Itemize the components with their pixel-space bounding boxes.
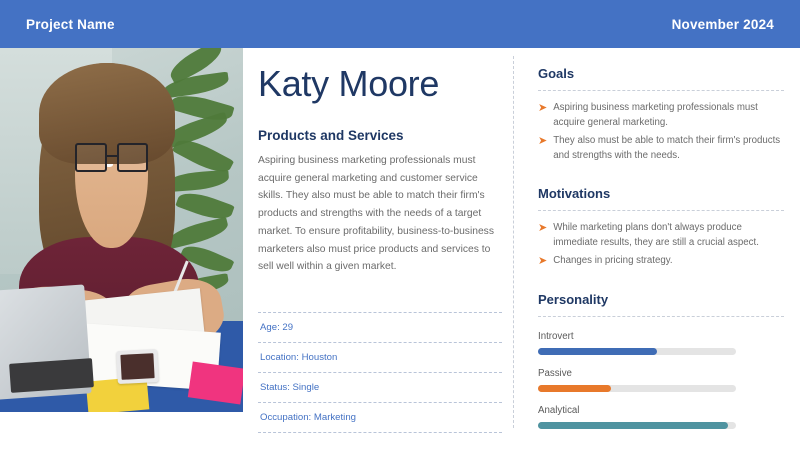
personality-meters: Introvert Passive Analytical [538, 331, 784, 429]
motivations-list: ➤ While marketing plans don't always pro… [538, 221, 784, 270]
goals-item-text: They also must be able to match their fi… [553, 134, 784, 163]
profile-photo [0, 48, 243, 412]
personality-panel: Personality Introvert Passive Analytic [538, 274, 784, 429]
header-date: November 2024 [672, 17, 774, 32]
goals-panel: Goals ➤ Aspiring business marketing prof… [538, 48, 784, 164]
trait-label: Analytical [538, 405, 784, 416]
eyeglasses-icon [75, 143, 148, 172]
trait-slider[interactable] [538, 348, 736, 355]
page-header: Project Name November 2024 [0, 0, 800, 48]
person-name: Katy Moore [258, 66, 502, 102]
trait-fill [538, 422, 728, 429]
fact-status: Status: Single [258, 373, 502, 403]
list-item: ➤ While marketing plans don't always pro… [538, 221, 784, 250]
personality-rule [538, 316, 784, 317]
motivations-panel: Motivations ➤ While marketing plans don'… [538, 168, 784, 270]
facts-list: Age: 29 Location: Houston Status: Single… [258, 312, 502, 433]
phone-icon [116, 349, 159, 384]
trait-fill [538, 348, 657, 355]
arrow-bullet-icon: ➤ [538, 101, 547, 117]
column-divider [513, 56, 514, 428]
fact-location: Location: Houston [258, 343, 502, 373]
photo-illustration [0, 48, 243, 412]
personality-title: Personality [538, 274, 784, 307]
project-name: Project Name [26, 17, 115, 32]
details-column: Goals ➤ Aspiring business marketing prof… [538, 48, 784, 450]
laptop-keyboard [9, 358, 93, 393]
trait-label: Passive [538, 368, 784, 379]
list-item: ➤ They also must be able to match their … [538, 134, 784, 163]
trait-passive: Passive [538, 368, 784, 392]
motivations-rule [538, 210, 784, 211]
arrow-bullet-icon: ➤ [538, 134, 547, 150]
trait-slider[interactable] [538, 385, 736, 392]
motivations-item-text: Changes in pricing strategy. [553, 254, 672, 269]
sticky-note-pink [187, 361, 243, 404]
profile-column: Katy Moore Products and Services Aspirin… [258, 48, 502, 450]
trait-slider[interactable] [538, 422, 736, 429]
trait-analytical: Analytical [538, 405, 784, 429]
motivations-item-text: While marketing plans don't always produ… [553, 221, 784, 250]
products-services-text: Aspiring business marketing professional… [258, 152, 502, 276]
trait-fill [538, 385, 611, 392]
trait-introvert: Introvert [538, 331, 784, 355]
goals-item-text: Aspiring business marketing professional… [553, 101, 784, 130]
fact-age: Age: 29 [258, 312, 502, 343]
fact-occupation: Occupation: Marketing [258, 403, 502, 433]
arrow-bullet-icon: ➤ [538, 221, 547, 237]
goals-list: ➤ Aspiring business marketing profession… [538, 101, 784, 164]
motivations-title: Motivations [538, 168, 784, 201]
trait-label: Introvert [538, 331, 784, 342]
list-item: ➤ Aspiring business marketing profession… [538, 101, 784, 130]
goals-title: Goals [538, 48, 784, 81]
products-services-title: Products and Services [258, 128, 502, 143]
list-item: ➤ Changes in pricing strategy. [538, 254, 784, 270]
goals-rule [538, 90, 784, 91]
persona-page: Project Name November 2024 [0, 0, 800, 450]
arrow-bullet-icon: ➤ [538, 254, 547, 270]
